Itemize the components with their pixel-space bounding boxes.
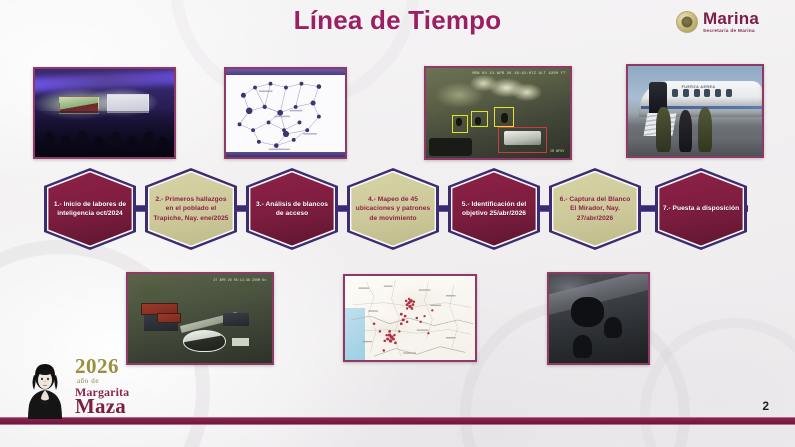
timeline: 1.- Inicio de labores de inteligencia oc…	[0, 168, 795, 250]
motorcycle	[604, 317, 622, 338]
timeline-node-4[interactable]: 4.- Mapeo de 45 ubicaciones y patrones d…	[347, 168, 439, 250]
aircraft-window	[694, 89, 700, 96]
map-overlay	[345, 276, 475, 360]
brand-subtitle: Secretaría de Marina	[703, 29, 759, 34]
armed-escort-figure	[698, 107, 713, 152]
tracking-box-yellow	[494, 107, 514, 128]
photo-aerial-property-red-roofs: 27 APR 26 05:11:38 ZOOM 6x	[126, 272, 274, 365]
page-number: 2	[762, 399, 769, 413]
tarmac	[628, 136, 762, 156]
timeline-node-7[interactable]: 7.- Puesta a disposición	[655, 168, 747, 250]
footer-name-last: Maza	[75, 396, 129, 417]
photo-aerial-surveillance-tracking-boxes: MSN 04 21 APR 26 18:42:07Z ALT 4200 FT I…	[424, 66, 572, 160]
building-structure	[223, 313, 249, 325]
personnel-cluster	[571, 297, 605, 327]
mexican-eagle-seal-icon	[676, 11, 698, 33]
margarita-maza-portrait-icon	[22, 359, 68, 419]
timeline-node-2[interactable]: 2.- Primeros hallazgos en el poblado el …	[145, 168, 237, 250]
footer-year: 2026	[75, 356, 129, 377]
footer-ano-de: año de	[77, 378, 129, 385]
surveillance-osd-mode: IR WFOV	[550, 150, 564, 154]
aircraft-window	[715, 89, 721, 96]
photo-network-link-analysis-diagram	[224, 67, 347, 159]
photo-aircraft-detainee-escort: FUERZA AEREA	[626, 64, 764, 158]
terrain-shadow	[429, 138, 472, 156]
detainee-figure	[679, 110, 692, 151]
margarita-maza-footer-logo: 2026 año de Margarita Maza	[22, 357, 129, 419]
slide-canvas: Línea de Tiempo Marina Secretaría de Mar…	[0, 0, 795, 447]
aircraft-window	[704, 89, 710, 96]
aircraft-window	[726, 89, 732, 96]
brand-name: Marina	[703, 10, 759, 27]
timeline-node-1-label: 1.- Inicio de labores de inteligencia oc…	[51, 200, 129, 219]
diagram-footer-bar	[226, 152, 345, 157]
aircraft-window	[683, 89, 689, 96]
timeline-node-2-label: 2.- Primeros hallazgos en el poblado el …	[152, 195, 230, 223]
background-swirl-decoration	[640, 318, 795, 447]
aircraft-markings: FUERZA AEREA	[682, 85, 716, 89]
tracking-box-yellow	[452, 115, 468, 133]
timeline-node-4-label: 4.- Mapeo de 45 ubicaciones y patrones d…	[354, 195, 432, 223]
projection-screen	[107, 94, 149, 113]
tracking-box-red	[498, 127, 547, 152]
aircraft-window	[672, 89, 678, 96]
timeline-node-3[interactable]: 3.- Análisis de blancos de acceso	[246, 168, 338, 250]
timeline-node-6[interactable]: 6.- Captura del Blanco El Mirador, Nay. …	[549, 168, 641, 250]
stage-light-beam	[35, 70, 174, 92]
tracking-box-yellow	[471, 111, 488, 127]
timeline-node-3-label: 3.- Análisis de blancos de acceso	[253, 200, 331, 219]
photo-night-vision-capture	[547, 272, 650, 365]
timeline-node-5-label: 5.- Identificación del objetivo 25/abr/2…	[455, 200, 533, 219]
swimming-pool	[183, 330, 226, 352]
photo-briefing-room	[33, 67, 176, 159]
timeline-node-5[interactable]: 5.- Identificación del objetivo 25/abr/2…	[448, 168, 540, 250]
surveillance-osd-text: MSN 04 21 APR 26 18:42:07Z ALT 4200 FT	[472, 72, 565, 77]
marina-brand-logo: Marina Secretaría de Marina	[676, 7, 759, 37]
photo-location-map-markers	[343, 274, 477, 362]
link-analysis-graph	[226, 74, 345, 151]
timeline-node-1[interactable]: 1.- Inicio de labores de inteligencia oc…	[44, 168, 136, 250]
armed-escort-figure	[656, 107, 671, 152]
red-roof	[157, 313, 181, 323]
seated-audience	[35, 111, 174, 157]
outbuilding	[232, 338, 249, 346]
timeline-node-7-label: 7.- Puesta a disposición	[663, 204, 739, 213]
motorcycle	[573, 335, 592, 358]
property-osd-text: 27 APR 26 05:11:38 ZOOM 6x	[213, 279, 266, 284]
timeline-node-6-label: 6.- Captura del Blanco El Mirador, Nay. …	[556, 195, 634, 223]
